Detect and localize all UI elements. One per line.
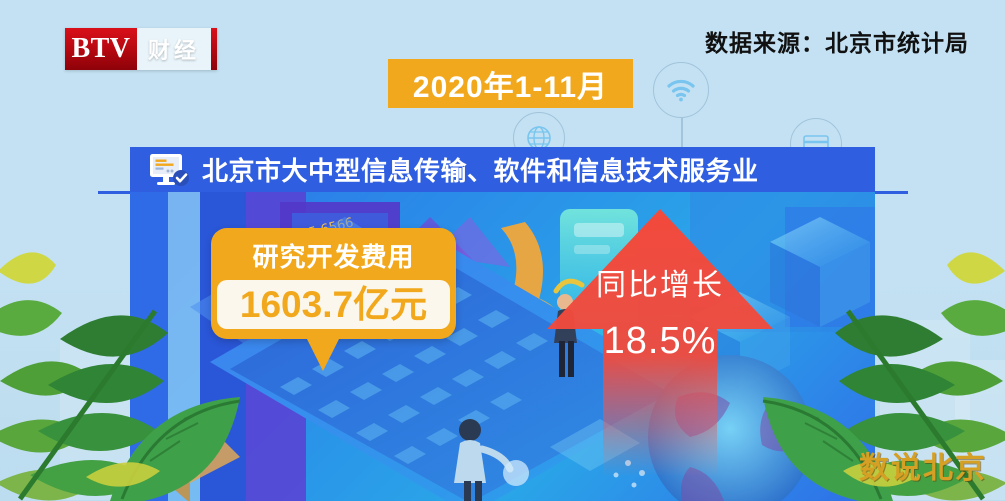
panel-title-bar: 北京市大中型信息传输、软件和信息技术服务业 xyxy=(130,147,875,192)
btv-logo-cap xyxy=(211,28,217,70)
infographic-stage: BTV 财经 数据来源：北京市统计局 2020年1-11月 xyxy=(0,0,1005,501)
growth-arrow: 同比增长 18.5% xyxy=(545,205,775,475)
btv-logo: BTV 财经 xyxy=(65,28,217,70)
btv-logo-mark: BTV xyxy=(65,28,137,70)
panel-tick-right xyxy=(874,191,908,194)
callout-box: 研究开发费用 1603.7亿元 xyxy=(211,228,456,339)
skyline-block-2 xyxy=(60,340,130,500)
data-source-text: 数据来源：北京市统计局 xyxy=(705,24,969,58)
wifi-icon xyxy=(653,62,709,118)
rd-expense-callout: 研究开发费用 1603.7亿元 xyxy=(211,228,456,339)
monitor-icon xyxy=(146,152,192,188)
date-badge: 2020年1-11月 xyxy=(388,59,633,108)
callout-value: 1603.7亿元 xyxy=(225,284,442,325)
panel-tick-left xyxy=(98,191,132,194)
callout-tail xyxy=(306,337,340,371)
arrow-shape xyxy=(545,205,775,475)
callout-label: 研究开发费用 xyxy=(217,234,450,280)
panel-title: 北京市大中型信息传输、软件和信息技术服务业 xyxy=(202,151,759,188)
callout-value-box: 1603.7亿元 xyxy=(217,280,450,329)
watermark-logo: 数说北京 xyxy=(859,443,987,487)
btv-logo-channel: 财经 xyxy=(137,28,211,70)
